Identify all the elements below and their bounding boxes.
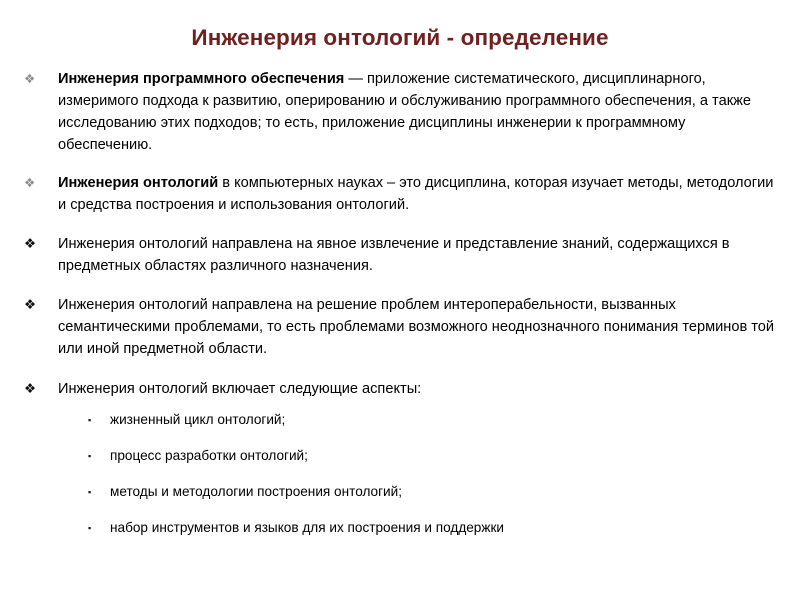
list-item-label: процесс разработки онтологий; xyxy=(110,448,308,463)
list-item-label: жизненный цикл онтологий; xyxy=(110,412,285,427)
aspects-sublist: ▪ жизненный цикл онтологий; ▪ процесс ра… xyxy=(22,410,782,538)
list-item: ▪ методы и методологии построения онтоло… xyxy=(88,482,782,502)
bullet-item-5: ❖ Инженерия онтологий включает следующие… xyxy=(22,378,782,400)
square-bullet-icon: ▪ xyxy=(88,410,91,431)
bullet-item-3: ❖ Инженерия онтологий направлена на явно… xyxy=(22,233,782,277)
bullet-lead-1: Инженерия программного обеспечения xyxy=(58,71,344,87)
bullet-text-2: Инженерия онтологий в компьютерных наука… xyxy=(58,172,782,216)
slide-body: ❖ Инженерия программного обеспечения — п… xyxy=(22,68,782,538)
list-item-label: набор инструментов и языков для их постр… xyxy=(110,520,504,535)
bullet-item-4: ❖ Инженерия онтологий направлена на реше… xyxy=(22,294,782,360)
bullet-text-1: Инженерия программного обеспечения — при… xyxy=(58,68,782,156)
list-item: ▪ процесс разработки онтологий; xyxy=(88,446,782,466)
list-item: ▪ набор инструментов и языков для их пос… xyxy=(88,518,782,538)
square-bullet-icon: ▪ xyxy=(88,518,91,539)
diamond-bullet-icon: ❖ xyxy=(24,233,44,255)
diamond-bullet-icon: ❖ xyxy=(24,172,44,194)
bullet-item-1: ❖ Инженерия программного обеспечения — п… xyxy=(22,68,782,156)
diamond-bullet-icon: ❖ xyxy=(24,378,44,400)
bullet-text-5: Инженерия онтологий включает следующие а… xyxy=(58,378,782,400)
list-item: ▪ жизненный цикл онтологий; xyxy=(88,410,782,430)
bullet-text-4: Инженерия онтологий направлена на решени… xyxy=(58,294,782,360)
diamond-bullet-icon: ❖ xyxy=(24,294,44,316)
bullet-text-3: Инженерия онтологий направлена на явное … xyxy=(58,233,782,277)
square-bullet-icon: ▪ xyxy=(88,446,91,467)
bullet-item-2: ❖ Инженерия онтологий в компьютерных нау… xyxy=(22,172,782,216)
diamond-bullet-icon: ❖ xyxy=(24,68,44,90)
list-item-label: методы и методологии построения онтологи… xyxy=(110,484,402,499)
page-title: Инженерия онтологий - определение xyxy=(0,26,800,51)
square-bullet-icon: ▪ xyxy=(88,482,91,503)
bullet-lead-2: Инженерия онтологий xyxy=(58,175,218,191)
slide: Инженерия онтологий - определение ❖ Инже… xyxy=(0,0,800,600)
